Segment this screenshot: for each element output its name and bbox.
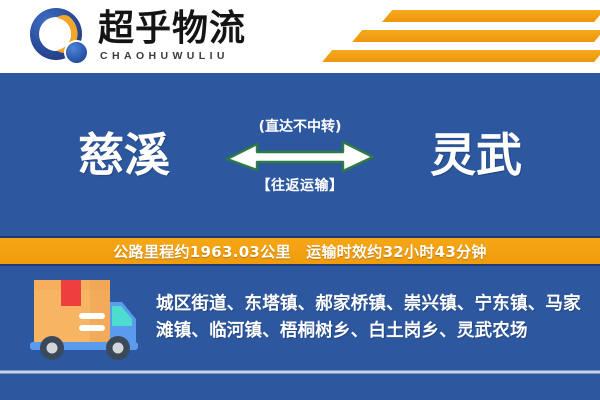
banner-header: 超乎物流 CHAOHUWULIU (0, 0, 600, 73)
bidirectional-arrow-icon (225, 139, 375, 173)
route-info-text: 公路里程约1963.03公里 运输时效约32小时43分钟 (113, 241, 486, 262)
delivery-truck-icon (26, 274, 144, 362)
coverage-areas-text: 城区街道、东塔镇、郝家桥镇、崇兴镇、宁东镇、马家滩镇、临河镇、梧桐树乡、白土岗乡… (156, 291, 584, 345)
route-inner: 慈溪 (直达不中转) 【往返运输】 灵武 (0, 73, 600, 236)
stripe-1 (382, 8, 600, 22)
brand-name-cn: 超乎物流 (98, 10, 246, 48)
route-note-bottom: 【往返运输】 (257, 177, 344, 195)
coverage-panel: 城区街道、东塔镇、郝家桥镇、崇兴镇、宁东镇、马家滩镇、临河镇、梧桐树乡、白土岗乡… (0, 266, 600, 400)
brand-logo: 超乎物流 CHAOHUWULIU (30, 6, 246, 66)
stripe-2 (352, 28, 600, 42)
route-panel: 慈溪 (直达不中转) 【往返运输】 灵武 (0, 73, 600, 236)
destination-city: 灵武 (392, 129, 560, 181)
decorative-stripes (300, 8, 600, 66)
logistics-route-banner: 超乎物流 CHAOHUWULIU 慈溪 (直达不中转) 【往返运输】 灵武 (0, 0, 600, 400)
brand-name-en: CHAOHUWULIU (98, 49, 246, 63)
route-info-bar: 公路里程约1963.03公里 运输时效约32小时43分钟 (0, 236, 600, 266)
logo-dot (66, 42, 87, 63)
brand-text: 超乎物流 CHAOHUWULIU (98, 10, 246, 63)
stripe-3 (322, 48, 600, 62)
route-note-top: (直达不中转) (259, 118, 342, 136)
chaohu-circle-logo-icon (30, 6, 92, 66)
coverage-row: 城区街道、东塔镇、郝家桥镇、崇兴镇、宁东镇、马家滩镇、临河镇、梧桐树乡、白土岗乡… (0, 266, 600, 370)
route-arrow-group: (直达不中转) 【往返运输】 (208, 114, 392, 195)
bottom-divider (0, 370, 600, 374)
origin-city: 慈溪 (40, 129, 208, 181)
